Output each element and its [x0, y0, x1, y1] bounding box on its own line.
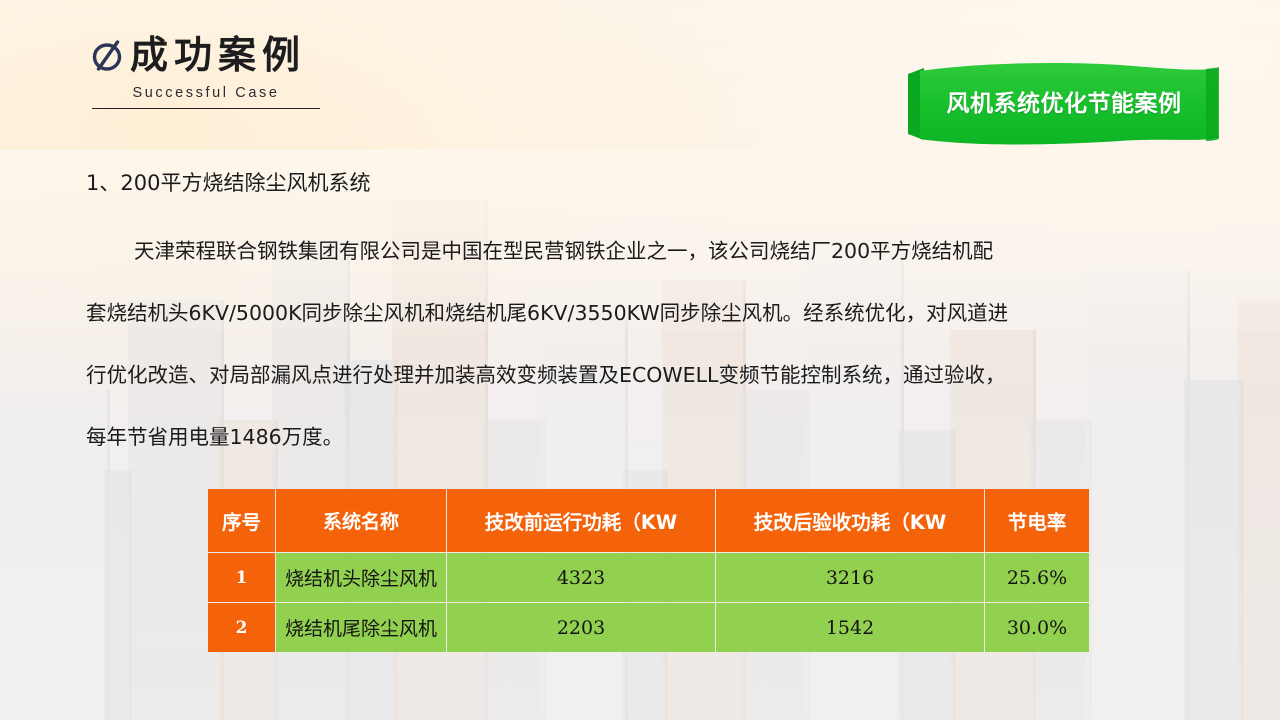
column-header-power-before: 技改前运行功耗（KW — [447, 489, 715, 552]
ribbon-banner: 风机系统优化节能案例 — [906, 62, 1222, 146]
results-table: 序号 系统名称 技改前运行功耗（KW 技改后验收功耗（KW 节电率 1 烧结机头… — [207, 488, 1090, 653]
column-header-system-name: 系统名称 — [276, 489, 446, 552]
slash-circle-icon — [92, 36, 126, 74]
cell-power-before: 2203 — [447, 603, 715, 652]
cell-index: 2 — [208, 603, 275, 652]
section-heading: 1、200平方烧结除尘风机系统 — [86, 168, 1206, 198]
cell-power-after: 3216 — [716, 553, 984, 602]
ribbon-label: 风机系统优化节能案例 — [906, 84, 1222, 118]
cell-index: 1 — [208, 553, 275, 602]
paragraph-line-3: 行优化改造、对局部漏风点进行处理并加装高效变频装置及ECOWELL变频节能控制系… — [86, 344, 1206, 406]
page-title: 成功案例 — [130, 36, 306, 74]
page-subtitle-underline: Successful Case — [92, 84, 320, 109]
cell-power-after: 1542 — [716, 603, 984, 652]
page-subtitle: Successful Case — [133, 85, 280, 101]
content-body: 1、200平方烧结除尘风机系统 天津荣程联合钢铁集团有限公司是中国在型民营钢铁企… — [86, 168, 1206, 468]
table-header-row: 序号 系统名称 技改前运行功耗（KW 技改后验收功耗（KW 节电率 — [208, 489, 1089, 552]
column-header-index: 序号 — [208, 489, 275, 552]
column-header-saving-rate: 节电率 — [985, 489, 1089, 552]
table-row: 1 烧结机头除尘风机 4323 3216 25.6% — [208, 553, 1089, 602]
paragraph-line-2: 套烧结机头6KV/5000K同步除尘风机和烧结机尾6KV/3550KW同步除尘风… — [86, 282, 1206, 344]
paragraph-line-1: 天津荣程联合钢铁集团有限公司是中国在型民营钢铁企业之一，该公司烧结厂200平方烧… — [86, 220, 1206, 282]
paragraph-line-4: 每年节省用电量1486万度。 — [86, 406, 1206, 468]
table-row: 2 烧结机尾除尘风机 2203 1542 30.0% — [208, 603, 1089, 652]
slide-root: 成功案例 Successful Case 风机系统优化节能案例 1、 — [0, 0, 1280, 720]
cell-system-name: 烧结机尾除尘风机 — [276, 603, 446, 652]
column-header-power-after: 技改后验收功耗（KW — [716, 489, 984, 552]
cell-saving-rate: 30.0% — [985, 603, 1089, 652]
cell-saving-rate: 25.6% — [985, 553, 1089, 602]
page-title-block: 成功案例 Successful Case — [92, 36, 320, 109]
cell-system-name: 烧结机头除尘风机 — [276, 553, 446, 602]
cell-power-before: 4323 — [447, 553, 715, 602]
